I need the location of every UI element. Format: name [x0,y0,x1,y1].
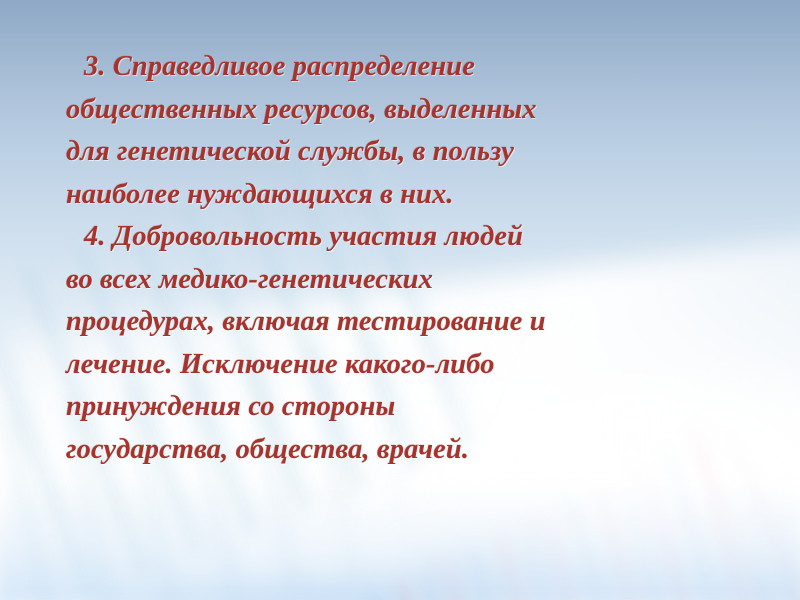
text-line-1: 3. Справедливое распределение [66,46,726,89]
text-line-6: во всех медико-генетических [66,259,726,302]
text-line-7: процедурах, включая тестирование и [66,301,726,344]
text-line-3: для генетической службы, в пользу [66,131,726,174]
text-line-8: лечение. Исключение какого-либо [66,344,726,387]
text-line-2: общественных ресурсов, выделенных [66,89,726,132]
text-line-9: принуждения со стороны [66,386,726,429]
background-bottom-haze [0,480,800,600]
slide-body-text: 3. Справедливое распределение общественн… [66,46,726,471]
text-line-4: наиболее нуждающихся в них. [66,174,726,217]
text-line-5: 4. Добровольность участия людей [66,216,726,259]
slide: 3. Справедливое распределение общественн… [0,0,800,600]
text-line-10: государства, общества, врачей. [66,429,726,472]
